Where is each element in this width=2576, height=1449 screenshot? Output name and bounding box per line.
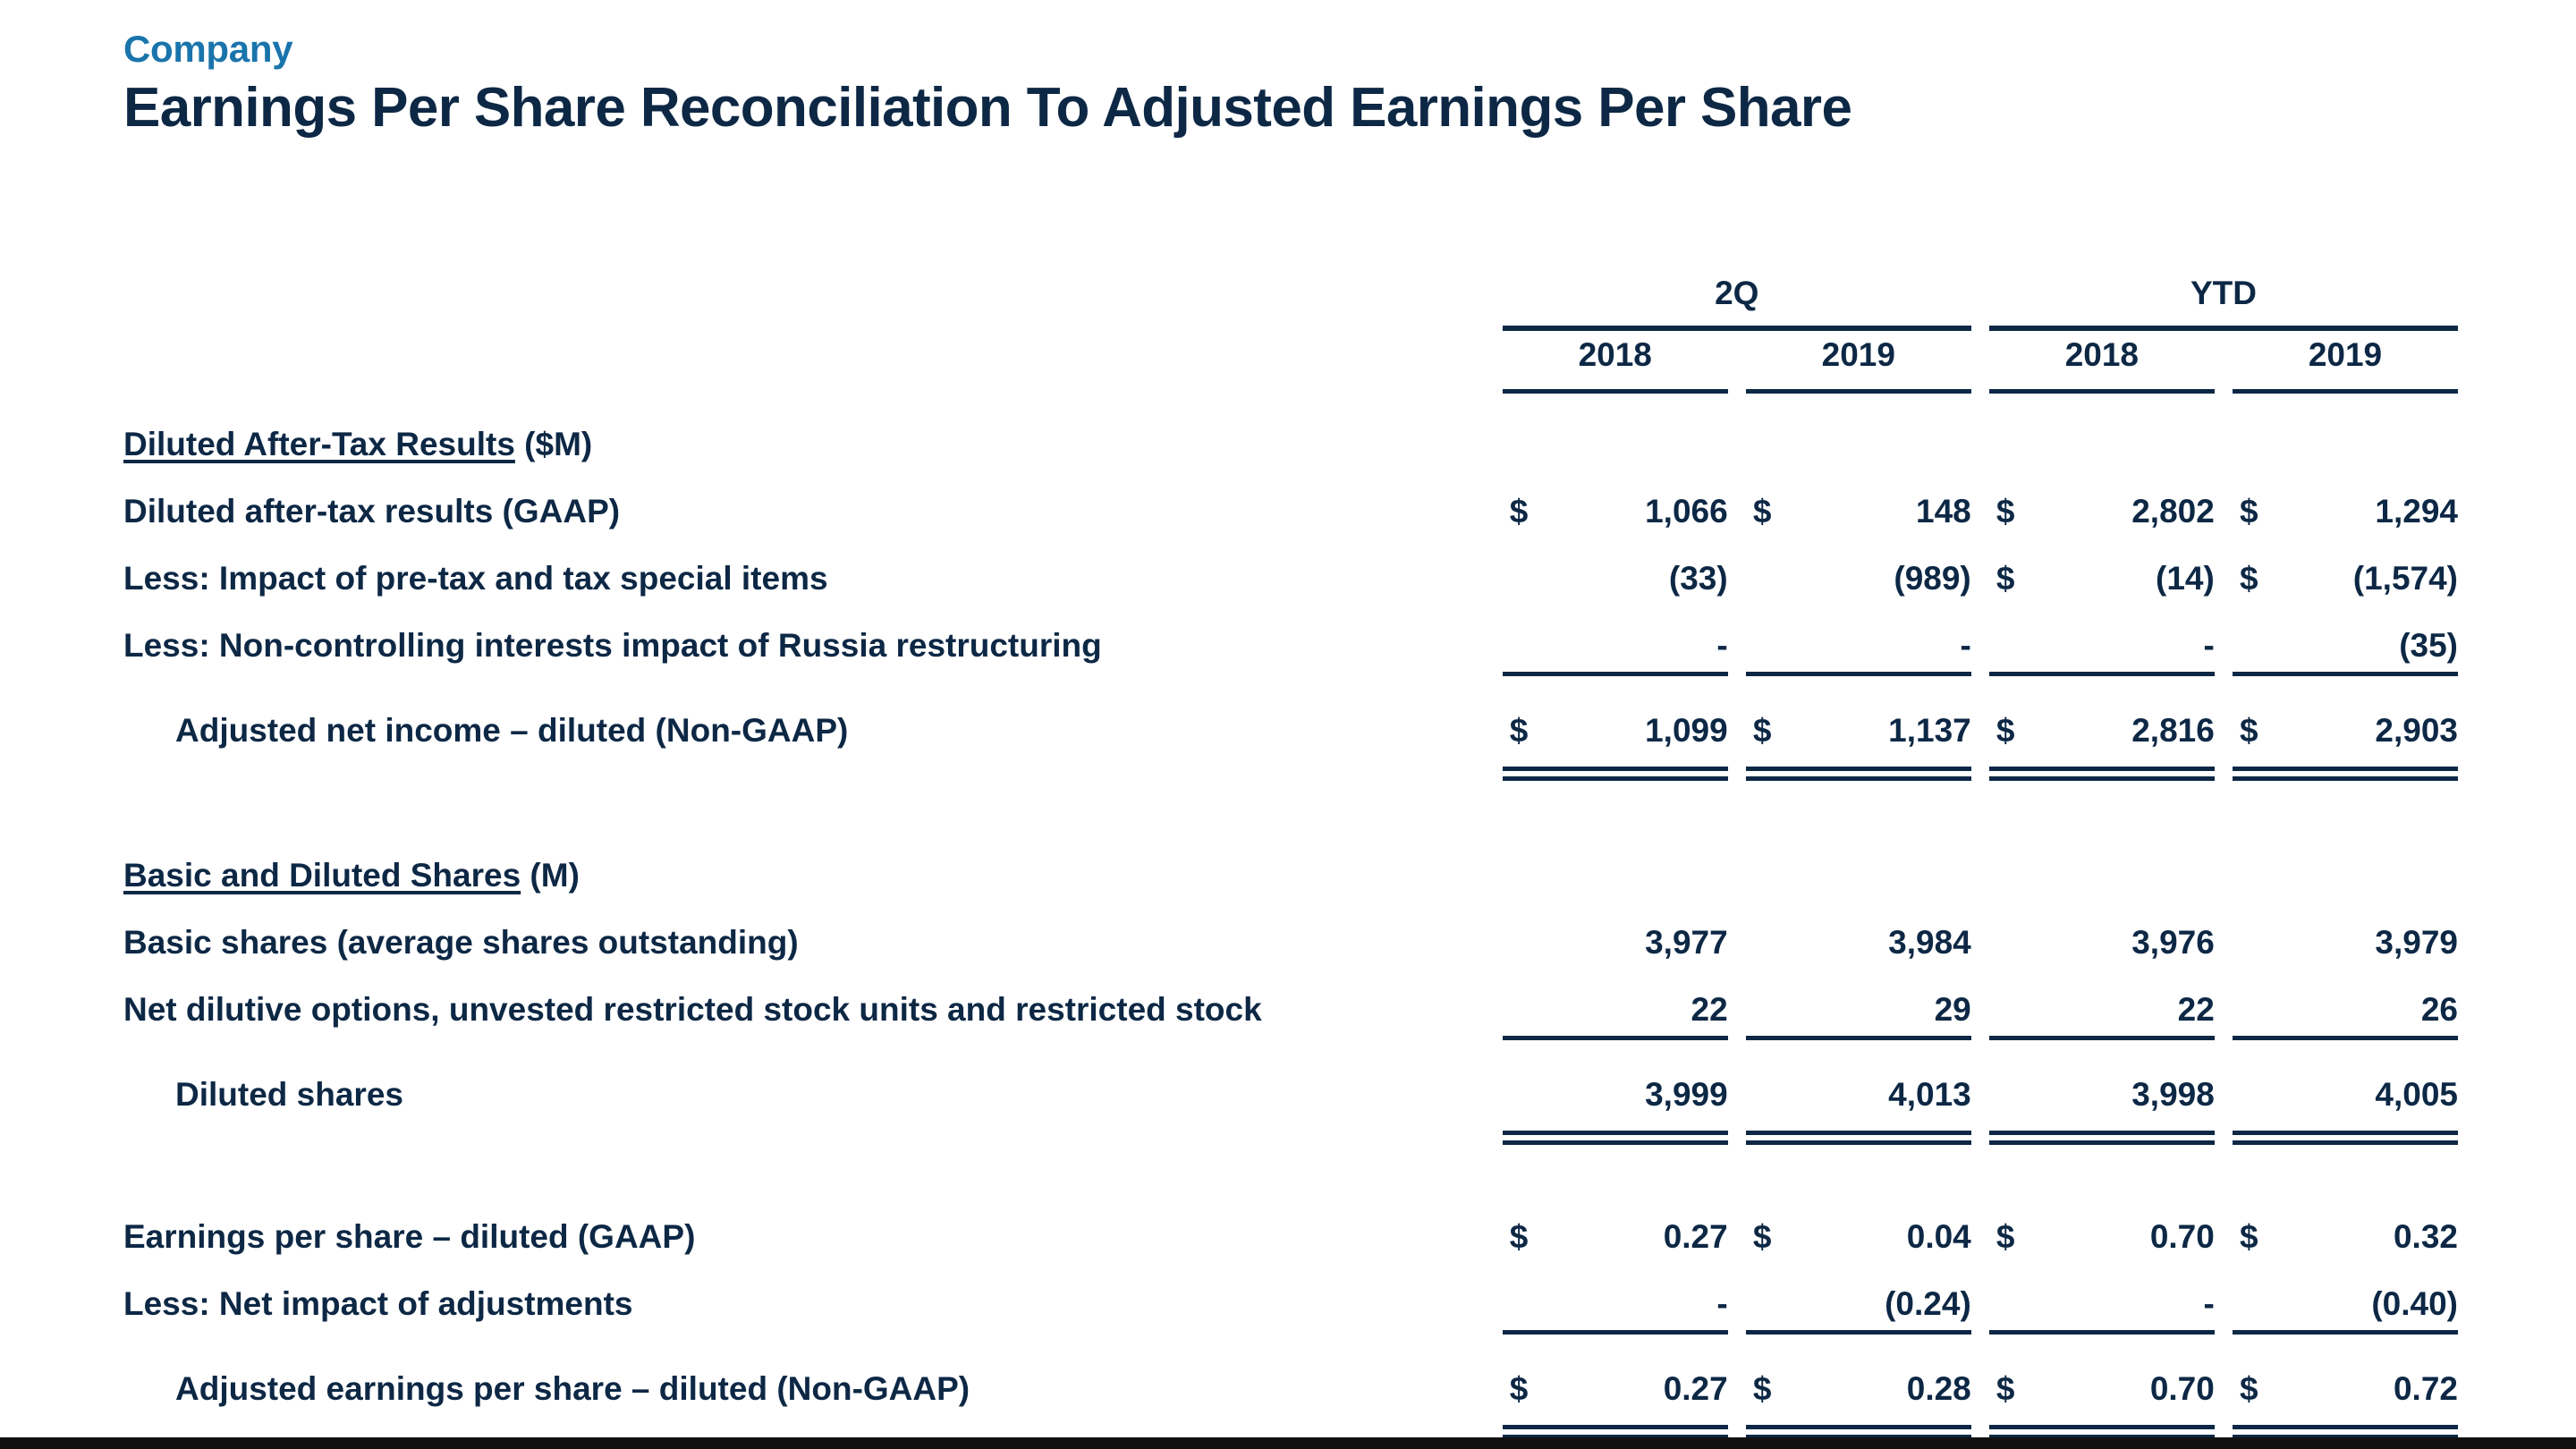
value-text: 2,903 [2375, 712, 2458, 749]
subtotal-rule-0 [1503, 1323, 1728, 1341]
table-row: Less: Impact of pre-tax and tax special … [123, 530, 2458, 597]
table-group-header-row: 2QYTD [123, 268, 2458, 318]
value-text: 0.27 [1664, 1370, 1728, 1407]
total-double-rule-row [123, 750, 2458, 771]
currency-symbol: $ [1996, 493, 2015, 530]
value-text: - [1716, 627, 1727, 664]
row-value-2: $(14) [1989, 530, 2215, 597]
total-double-rule-0 [1503, 750, 1728, 771]
value-text: (33) [1669, 560, 1728, 597]
value-text: 3,984 [1888, 924, 1971, 961]
row-label: Adjusted earnings per share – diluted (N… [123, 1341, 1503, 1408]
row-label: Basic shares (average shares outstanding… [123, 894, 1503, 962]
row-value-3: 4,005 [2233, 1046, 2458, 1114]
row-label: Diluted shares [123, 1046, 1503, 1114]
value-text: 4,005 [2375, 1076, 2458, 1113]
row-value-2: 3,976 [1989, 894, 2215, 962]
subtotal-rule-2 [1989, 665, 2215, 682]
subtotal-rule-1 [1746, 1029, 1971, 1046]
total-double-rule-0 [1503, 1408, 1728, 1429]
section-heading-underlined: Basic and Diluted Shares [123, 857, 521, 894]
column-rule-3 [2233, 379, 2458, 394]
column-rule-1 [1746, 379, 1971, 394]
subtotal-rule-1 [1746, 665, 1971, 682]
row-value-2: $2,816 [1989, 682, 2215, 750]
row-value-3: (0.40) [2233, 1256, 2458, 1323]
total-double-rule-2 [1989, 1408, 2215, 1429]
page-title: Earnings Per Share Reconciliation To Adj… [123, 79, 2467, 137]
section-heading: Diluted After-Tax Results ($M) [123, 394, 1503, 463]
section-spacer [123, 1135, 2458, 1189]
value-text: 26 [2421, 991, 2458, 1028]
currency-symbol: $ [2240, 1218, 2258, 1256]
value-text: (0.40) [2371, 1285, 2458, 1322]
total-double-rule-2 [1989, 750, 2215, 771]
value-text: (35) [2399, 627, 2458, 664]
value-text: 1,137 [1888, 712, 1971, 749]
bottom-accent-bar [0, 1437, 2576, 1449]
section-heading-row: Diluted After-Tax Results ($M) [123, 394, 2458, 463]
group-header-ytd: YTD [1989, 268, 2458, 318]
total-double-rule-1 [1746, 1408, 1971, 1429]
row-value-0: 22 [1503, 962, 1728, 1029]
subtotal-rule-2 [1989, 1323, 2215, 1341]
subtotal-rule-3 [2233, 1029, 2458, 1046]
total-double-rule-3 [2233, 750, 2458, 771]
subtotal-rule-1 [1746, 1323, 1971, 1341]
currency-symbol: $ [2240, 712, 2258, 750]
total-double-rule-row [123, 1408, 2458, 1429]
value-text: 1,294 [2375, 493, 2458, 530]
row-value-1: 4,013 [1746, 1046, 1971, 1114]
table-row: Net dilutive options, unvested restricte… [123, 962, 2458, 1029]
row-label: Net dilutive options, unvested restricte… [123, 962, 1503, 1029]
row-value-2: $2,802 [1989, 463, 2215, 530]
row-value-3: $1,294 [2233, 463, 2458, 530]
section-heading-unit: ($M) [515, 426, 592, 462]
value-text: - [2204, 627, 2215, 664]
currency-symbol: $ [1510, 712, 1529, 750]
value-text: 148 [1916, 493, 1971, 530]
subtotal-rule-row [123, 1323, 2458, 1341]
value-text: 3,999 [1645, 1076, 1728, 1113]
column-rule-0 [1503, 379, 1728, 394]
total-double-rule-0 [1503, 1114, 1728, 1135]
section-heading-unit: (M) [521, 857, 580, 894]
currency-symbol: $ [1996, 1370, 2015, 1408]
table-row: Basic shares (average shares outstanding… [123, 894, 2458, 962]
value-text: 1,066 [1645, 493, 1728, 530]
column-rule-2 [1989, 379, 2215, 394]
reconciliation-table-wrap: 2QYTD2018201920182019Diluted After-Tax R… [123, 268, 2458, 1429]
value-text: 0.72 [2394, 1370, 2458, 1407]
group-rule-ytd [1989, 318, 2458, 331]
value-text: (14) [2156, 560, 2215, 597]
row-label: Earnings per share – diluted (GAAP) [123, 1189, 1503, 1256]
section-heading: Basic and Diluted Shares (M) [123, 825, 1503, 894]
row-value-0: $0.27 [1503, 1189, 1728, 1256]
row-value-1: 3,984 [1746, 894, 1971, 962]
row-label: Less: Impact of pre-tax and tax special … [123, 530, 1503, 597]
value-text: 0.70 [2150, 1218, 2215, 1255]
value-text: - [1716, 1285, 1727, 1322]
group-header-2q: 2Q [1503, 268, 1971, 318]
row-value-2: 22 [1989, 962, 2215, 1029]
value-text: 0.27 [1664, 1218, 1728, 1255]
row-value-0: $1,066 [1503, 463, 1728, 530]
currency-symbol: $ [1753, 1370, 1772, 1408]
group-rule-2q [1503, 318, 1971, 331]
row-value-0: - [1503, 597, 1728, 665]
row-value-3: $0.32 [2233, 1189, 2458, 1256]
table-row: Earnings per share – diluted (GAAP)$0.27… [123, 1189, 2458, 1256]
row-value-1: $0.04 [1746, 1189, 1971, 1256]
currency-symbol: $ [1753, 1218, 1772, 1256]
row-label: Diluted after-tax results (GAAP) [123, 463, 1503, 530]
currency-symbol: $ [1996, 1218, 2015, 1256]
subtotal-rule-3 [2233, 1323, 2458, 1341]
section-spacer [123, 771, 2458, 825]
row-label: Adjusted net income – diluted (Non-GAAP) [123, 682, 1503, 750]
value-text: 0.70 [2150, 1370, 2215, 1407]
value-text: - [1960, 627, 1970, 664]
currency-symbol: $ [2240, 560, 2258, 597]
total-double-rule-1 [1746, 750, 1971, 771]
currency-symbol: $ [1510, 1370, 1529, 1408]
row-value-0: 3,999 [1503, 1046, 1728, 1114]
value-text: (0.24) [1885, 1285, 1971, 1322]
row-value-1: $1,137 [1746, 682, 1971, 750]
company-eyebrow: Company [123, 30, 2467, 68]
subtotal-rule-row [123, 1029, 2458, 1046]
table-row: Adjusted net income – diluted (Non-GAAP)… [123, 682, 2458, 750]
total-double-rule-3 [2233, 1408, 2458, 1429]
table-column-header-row: 2018201920182019 [123, 331, 2458, 379]
value-text: (989) [1894, 560, 1970, 597]
currency-symbol: $ [2240, 1370, 2258, 1408]
subtotal-rule-row [123, 665, 2458, 682]
row-value-1: $0.28 [1746, 1341, 1971, 1408]
column-header-3: 2019 [2233, 331, 2458, 379]
row-value-0: $0.27 [1503, 1341, 1728, 1408]
total-double-rule-2 [1989, 1114, 2215, 1135]
table-row: Diluted after-tax results (GAAP)$1,066$1… [123, 463, 2458, 530]
row-value-3: $(1,574) [2233, 530, 2458, 597]
row-label: Less: Non-controlling interests impact o… [123, 597, 1503, 665]
value-text: 3,977 [1645, 924, 1728, 961]
row-value-3: $0.72 [2233, 1341, 2458, 1408]
row-value-3: $2,903 [2233, 682, 2458, 750]
row-value-1: 29 [1746, 962, 1971, 1029]
currency-symbol: $ [1753, 493, 1772, 530]
value-text: 22 [2178, 991, 2215, 1028]
value-text: 2,802 [2131, 493, 2215, 530]
total-double-rule-1 [1746, 1114, 1971, 1135]
slide-header: Company Earnings Per Share Reconciliatio… [123, 30, 2467, 137]
row-value-2: - [1989, 597, 2215, 665]
value-text: 4,013 [1888, 1076, 1971, 1113]
value-text: (1,574) [2353, 560, 2458, 597]
total-double-rule-3 [2233, 1114, 2458, 1135]
table-row: Less: Net impact of adjustments-(0.24)-(… [123, 1256, 2458, 1323]
currency-symbol: $ [1510, 1218, 1529, 1256]
row-value-0: - [1503, 1256, 1728, 1323]
column-header-1: 2019 [1746, 331, 1971, 379]
column-header-rule-row [123, 379, 2458, 394]
value-text: 29 [1935, 991, 1971, 1028]
reconciliation-table: 2QYTD2018201920182019Diluted After-Tax R… [123, 268, 2458, 1429]
column-header-2: 2018 [1989, 331, 2215, 379]
row-value-1: (0.24) [1746, 1256, 1971, 1323]
row-value-3: (35) [2233, 597, 2458, 665]
value-text: 0.28 [1907, 1370, 1971, 1407]
value-text: 0.32 [2394, 1218, 2458, 1255]
subtotal-rule-3 [2233, 665, 2458, 682]
value-text: 3,976 [2131, 924, 2215, 961]
slide-canvas: Company Earnings Per Share Reconciliatio… [0, 0, 2576, 1449]
table-row: Less: Non-controlling interests impact o… [123, 597, 2458, 665]
currency-symbol: $ [1996, 560, 2015, 597]
row-value-0: 3,977 [1503, 894, 1728, 962]
row-value-0: $1,099 [1503, 682, 1728, 750]
row-value-1: (989) [1746, 530, 1971, 597]
currency-symbol: $ [1996, 712, 2015, 750]
row-value-0: (33) [1503, 530, 1728, 597]
value-text: 22 [1691, 991, 1728, 1028]
subtotal-rule-0 [1503, 1029, 1728, 1046]
row-label: Less: Net impact of adjustments [123, 1256, 1503, 1323]
section-heading-underlined: Diluted After-Tax Results [123, 426, 515, 462]
currency-symbol: $ [1510, 493, 1529, 530]
total-double-rule-row [123, 1114, 2458, 1135]
row-value-2: $0.70 [1989, 1189, 2215, 1256]
table-row: Adjusted earnings per share – diluted (N… [123, 1341, 2458, 1408]
currency-symbol: $ [2240, 493, 2258, 530]
subtotal-rule-2 [1989, 1029, 2215, 1046]
row-value-2: $0.70 [1989, 1341, 2215, 1408]
section-heading-row: Basic and Diluted Shares (M) [123, 825, 2458, 894]
subtotal-rule-0 [1503, 665, 1728, 682]
value-text: 3,979 [2375, 924, 2458, 961]
row-value-1: $148 [1746, 463, 1971, 530]
row-value-3: 3,979 [2233, 894, 2458, 962]
value-text: 0.04 [1907, 1218, 1971, 1255]
group-header-rule-row [123, 318, 2458, 331]
column-header-0: 2018 [1503, 331, 1728, 379]
value-text: 2,816 [2131, 712, 2215, 749]
row-value-2: 3,998 [1989, 1046, 2215, 1114]
value-text: - [2204, 1285, 2215, 1322]
value-text: 3,998 [2131, 1076, 2215, 1113]
row-value-3: 26 [2233, 962, 2458, 1029]
row-value-1: - [1746, 597, 1971, 665]
currency-symbol: $ [1753, 712, 1772, 750]
row-value-2: - [1989, 1256, 2215, 1323]
table-row: Diluted shares3,9994,0133,9984,005 [123, 1046, 2458, 1114]
value-text: 1,099 [1645, 712, 1728, 749]
